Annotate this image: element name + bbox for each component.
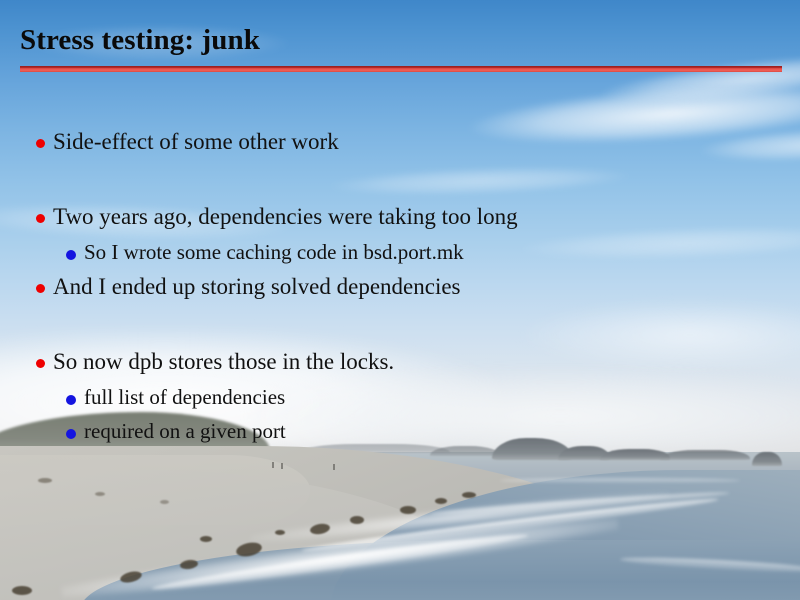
blue-dot-icon [66, 429, 76, 439]
bullet-text: So I wrote some caching code in bsd.port… [84, 242, 464, 263]
bullet-item: required on a given port [66, 421, 286, 442]
red-dot-icon [36, 359, 45, 368]
bullet-item: Side-effect of some other work [36, 130, 339, 153]
bullet-item: And I ended up storing solved dependenci… [36, 275, 461, 298]
red-dot-icon [36, 284, 45, 293]
blue-dot-icon [66, 250, 76, 260]
bullet-text: Side-effect of some other work [53, 130, 339, 153]
red-dot-icon [36, 139, 45, 148]
bullet-text: full list of dependencies [84, 387, 285, 408]
bullet-item: full list of dependencies [66, 387, 285, 408]
bullet-item: So I wrote some caching code in bsd.port… [66, 242, 464, 263]
presentation-slide: Stress testing: junk Side-effect of some… [0, 0, 800, 600]
bullet-text: So now dpb stores those in the locks. [53, 350, 394, 373]
bullet-text: And I ended up storing solved dependenci… [53, 275, 461, 298]
bullet-item: So now dpb stores those in the locks. [36, 350, 394, 373]
red-dot-icon [36, 214, 45, 223]
bullet-item: Two years ago, dependencies were taking … [36, 205, 518, 228]
bullet-text: required on a given port [84, 421, 286, 442]
bullet-text: Two years ago, dependencies were taking … [53, 205, 518, 228]
blue-dot-icon [66, 395, 76, 405]
slide-body-bullet-list: Side-effect of some other workTwo years … [0, 0, 800, 600]
